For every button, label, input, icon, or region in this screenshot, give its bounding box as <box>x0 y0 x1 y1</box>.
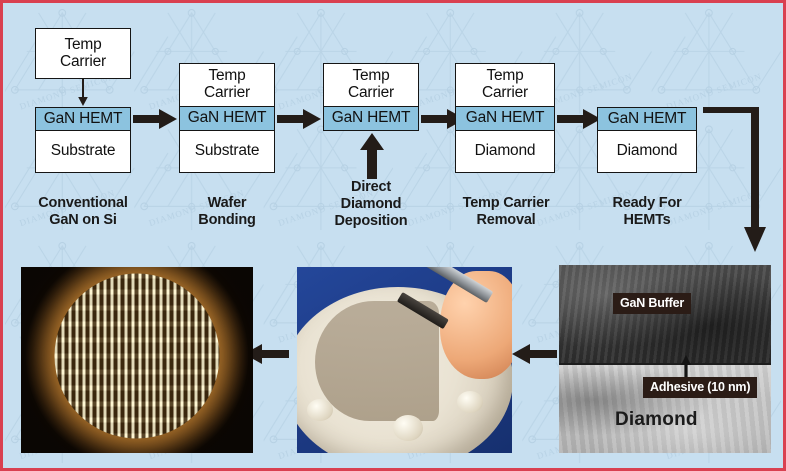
layer-gan-hemt: GaN HEMT <box>323 107 419 131</box>
caption-line-2: HEMTs <box>585 212 709 229</box>
caption-line-2: Removal <box>437 212 575 229</box>
layer-temp-carrier: Temp Carrier <box>35 28 131 79</box>
caption-line-2: Diamond <box>311 196 431 213</box>
wafer-support-pad <box>393 415 423 441</box>
caption-line-3: Deposition <box>311 213 431 230</box>
process-flow-figure: DIAMOND SEMICON Temp Carrier GaN HEMT Su… <box>0 0 786 471</box>
step-caption-conventional: Conventional GaN on Si <box>15 195 151 229</box>
caption-line-1: Conventional <box>15 195 151 212</box>
layer-gan-hemt: GaN HEMT <box>35 107 131 131</box>
layer-substrate: Substrate <box>35 131 131 173</box>
step-wafer-bonding-stack: Temp Carrier GaN HEMT Substrate <box>179 63 275 173</box>
step-caption-ready-for-hemts: Ready For HEMTs <box>585 195 709 229</box>
layer-temp-carrier: Temp Carrier <box>323 63 419 107</box>
sem-diamond-label: Diamond <box>615 409 698 431</box>
layer-substrate: Substrate <box>179 131 275 173</box>
flow-arrow-2-icon <box>277 108 322 130</box>
layer-gan-hemt: GaN HEMT <box>597 107 697 131</box>
layer-label-line2: Carrier <box>482 85 528 102</box>
layer-gan-hemt: GaN HEMT <box>179 107 275 131</box>
caption-line-2: GaN on Si <box>15 212 151 229</box>
step-direct-diamond-deposition-stack: Temp Carrier GaN HEMT <box>323 63 419 131</box>
step-conventional-temp-carrier-box: Temp Carrier <box>35 28 131 79</box>
flow-elbow-down-arrow-icon <box>703 107 767 253</box>
return-arrow-1-icon <box>511 343 557 365</box>
interference-wafer-photo <box>21 267 253 453</box>
layer-diamond: Diamond <box>455 131 555 173</box>
step-caption-wafer-bonding: Wafer Bonding <box>167 195 287 229</box>
layer-label-line2: Carrier <box>348 85 394 102</box>
layer-temp-carrier: Temp Carrier <box>179 63 275 107</box>
step-conventional-stack: GaN HEMT Substrate <box>35 107 131 173</box>
step-temp-carrier-removal-stack: Temp Carrier GaN HEMT Diamond <box>455 63 555 173</box>
caption-line-1: Wafer <box>167 195 287 212</box>
wafer-support-pad <box>457 391 483 413</box>
sem-gan-buffer-tag: GaN Buffer <box>613 293 691 314</box>
deposition-up-arrow-icon <box>359 133 385 179</box>
layer-label-line2: Carrier <box>204 85 250 102</box>
layer-label-line2: Carrier <box>60 54 106 71</box>
wafer-handling-photo <box>297 267 512 453</box>
layer-label-line1: Temp <box>64 37 101 54</box>
layer-diamond: Diamond <box>597 131 697 173</box>
layer-label-line1: Temp <box>486 68 523 85</box>
flow-arrow-4-icon <box>557 108 602 130</box>
caption-line-1: Direct <box>311 179 431 196</box>
step-caption-direct-diamond-deposition: Direct Diamond Deposition <box>311 179 431 229</box>
caption-line-1: Ready For <box>585 195 709 212</box>
flow-arrow-1-icon <box>133 108 178 130</box>
layer-label-line1: Temp <box>352 68 389 85</box>
caption-line-1: Temp Carrier <box>437 195 575 212</box>
step-caption-temp-carrier-removal: Temp Carrier Removal <box>437 195 575 229</box>
layer-label-line1: Temp <box>208 68 245 85</box>
sem-adhesive-tag: Adhesive (10 nm) <box>643 377 757 398</box>
layer-temp-carrier: Temp Carrier <box>455 63 555 107</box>
caption-line-2: Bonding <box>167 212 287 229</box>
sem-cross-section-photo: GaN Buffer Adhesive (10 nm) Diamond <box>559 265 771 453</box>
layer-gan-hemt: GaN HEMT <box>455 107 555 131</box>
step-ready-for-hemts-stack: GaN HEMT Diamond <box>597 107 697 173</box>
wafer-shaded-quadrant <box>315 301 439 421</box>
wafer-support-pad <box>307 399 333 421</box>
temp-carrier-attach-arrow-icon <box>75 79 91 107</box>
interference-fringe-disc <box>55 274 220 439</box>
